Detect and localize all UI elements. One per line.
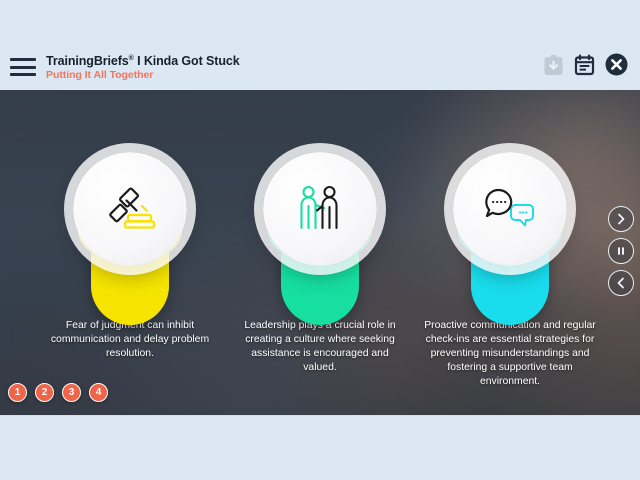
chevron-right-icon [615, 213, 627, 225]
next-button[interactable] [608, 206, 634, 232]
card-item: Fear of judgment can inhibit communicati… [44, 152, 216, 361]
download-icon[interactable] [543, 54, 564, 81]
player-footer [0, 415, 640, 480]
card-disc [263, 152, 377, 266]
card-disc [73, 152, 187, 266]
chevron-left-icon [615, 277, 627, 289]
card-disc [453, 152, 567, 266]
card-item: Leadership plays a crucial role in creat… [234, 152, 406, 375]
hamburger-bar [10, 58, 36, 61]
page-subtitle: Putting It All Together [46, 69, 543, 81]
page-title: TrainingBriefs® I Kinda Got Stuck [46, 54, 543, 68]
title-brand: TrainingBriefs [46, 54, 129, 68]
card-badge [65, 152, 195, 327]
card-item: Proactive communication and regular chec… [424, 152, 596, 389]
card-badge [445, 152, 575, 327]
card-text: Leadership plays a crucial role in creat… [234, 319, 406, 375]
pagination-dot-1[interactable]: 1 [8, 383, 27, 402]
pause-button[interactable] [608, 238, 634, 264]
card-group: Fear of judgment can inhibit communicati… [0, 90, 640, 415]
player-header: TrainingBriefs® I Kinda Got Stuck Puttin… [0, 44, 640, 90]
close-icon[interactable] [605, 53, 628, 81]
player-controls [608, 206, 634, 296]
hamburger-menu-icon[interactable] [10, 58, 36, 76]
pagination: 1 2 3 4 [8, 369, 108, 415]
title-rest: I Kinda Got Stuck [134, 54, 240, 68]
gavel-icon [98, 181, 162, 237]
elearning-player: TrainingBriefs® I Kinda Got Stuck Puttin… [0, 0, 640, 480]
card-badge [255, 152, 385, 327]
pagination-dot-3[interactable]: 3 [62, 383, 81, 402]
previous-button[interactable] [608, 270, 634, 296]
slide-stage: Fear of judgment can inhibit communicati… [0, 90, 640, 415]
hamburger-bar [10, 66, 36, 69]
card-text: Proactive communication and regular chec… [424, 319, 596, 389]
header-icon-group [543, 53, 628, 81]
speech-bubbles-icon [478, 181, 542, 237]
title-block: TrainingBriefs® I Kinda Got Stuck Puttin… [46, 53, 543, 81]
hamburger-bar [10, 73, 36, 76]
pagination-dot-4[interactable]: 4 [89, 383, 108, 402]
pause-icon [615, 245, 627, 257]
pagination-dot-2[interactable]: 2 [35, 383, 54, 402]
mentorship-handshake-icon [288, 181, 352, 237]
notes-icon[interactable] [574, 54, 595, 81]
